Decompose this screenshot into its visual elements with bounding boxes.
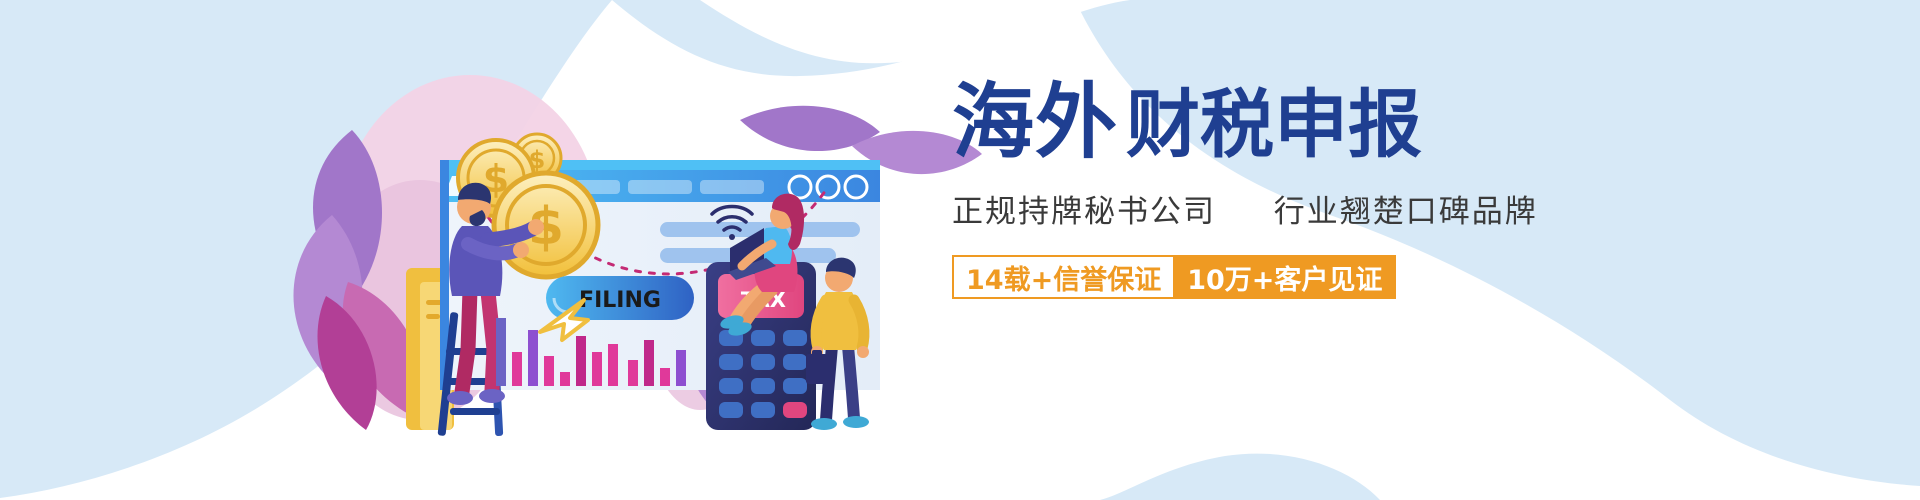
subtitle: 正规持牌秘书公司 行业翘楚口碑品牌: [952, 186, 1732, 231]
promo-banner: $ $ $: [0, 0, 1920, 500]
coin-large-main: $: [494, 173, 598, 277]
trust-badges: 14载+信誉保证 10万+客户见证: [952, 255, 1396, 299]
marketing-copy-block: 海外 财税申报 正规持牌秘书公司 行业翘楚口碑品牌 14载+信誉保证 10万+客…: [952, 82, 1732, 299]
headline-part-1: 海外: [952, 82, 1118, 164]
badge-customer-proof: 10万+客户见证: [1173, 255, 1396, 299]
headline-part-2: 财税申报: [1126, 88, 1422, 164]
page-title: 海外 财税申报: [952, 82, 1732, 164]
filing-button-label: FILING: [579, 288, 661, 313]
badge-years-guarantee: 14载+信誉保证: [952, 255, 1173, 299]
subtitle-right: 行业翘楚口碑品牌: [1274, 194, 1538, 230]
subtitle-left: 正规持牌秘书公司: [952, 194, 1216, 230]
